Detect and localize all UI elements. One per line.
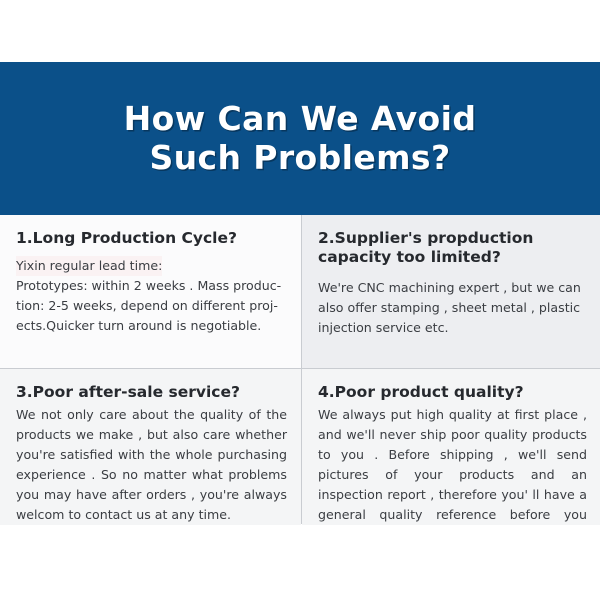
- bottom-whitespace: [0, 525, 600, 600]
- faq-heading-4: 4.Poor product quality?: [318, 383, 587, 402]
- faq-lead-line-1: Yixin regular lead time:: [16, 256, 162, 276]
- banner-header: How Can We Avoid Such Problems?: [0, 62, 600, 215]
- faq-cell-after-sale-service: 3.Poor after-sale service? We not only c…: [0, 369, 301, 525]
- faq-grid: 1.Long Production Cycle? Yixin regular l…: [0, 215, 600, 524]
- faq-heading-3: 3.Poor after-sale service?: [16, 383, 287, 402]
- faq-body-1: Yixin regular lead time:Prototypes: with…: [16, 256, 287, 336]
- top-whitespace: [0, 0, 600, 62]
- faq-body-text-1: Prototypes: within 2 weeks . Mass produc…: [16, 278, 281, 333]
- faq-heading-2: 2.Supplier's propduction capacity too li…: [318, 229, 587, 268]
- faq-cell-supplier-capacity: 2.Supplier's propduction capacity too li…: [302, 215, 600, 368]
- banner-title-line-2: Such Problems?: [149, 139, 450, 178]
- faq-cell-long-production-cycle: 1.Long Production Cycle? Yixin regular l…: [0, 215, 301, 368]
- faq-banner-page: How Can We Avoid Such Problems? 1.Long P…: [0, 0, 600, 600]
- faq-cell-product-quality: 4.Poor product quality? We always put hi…: [302, 369, 600, 525]
- faq-body-3: We not only care about the quality of th…: [16, 405, 287, 524]
- faq-body-4: We always put high quality at first plac…: [318, 405, 587, 525]
- banner-title-line-1: How Can We Avoid: [124, 100, 477, 139]
- faq-body-2: We're CNC machining expert , but we can …: [318, 278, 587, 338]
- faq-heading-1: 1.Long Production Cycle?: [16, 229, 287, 248]
